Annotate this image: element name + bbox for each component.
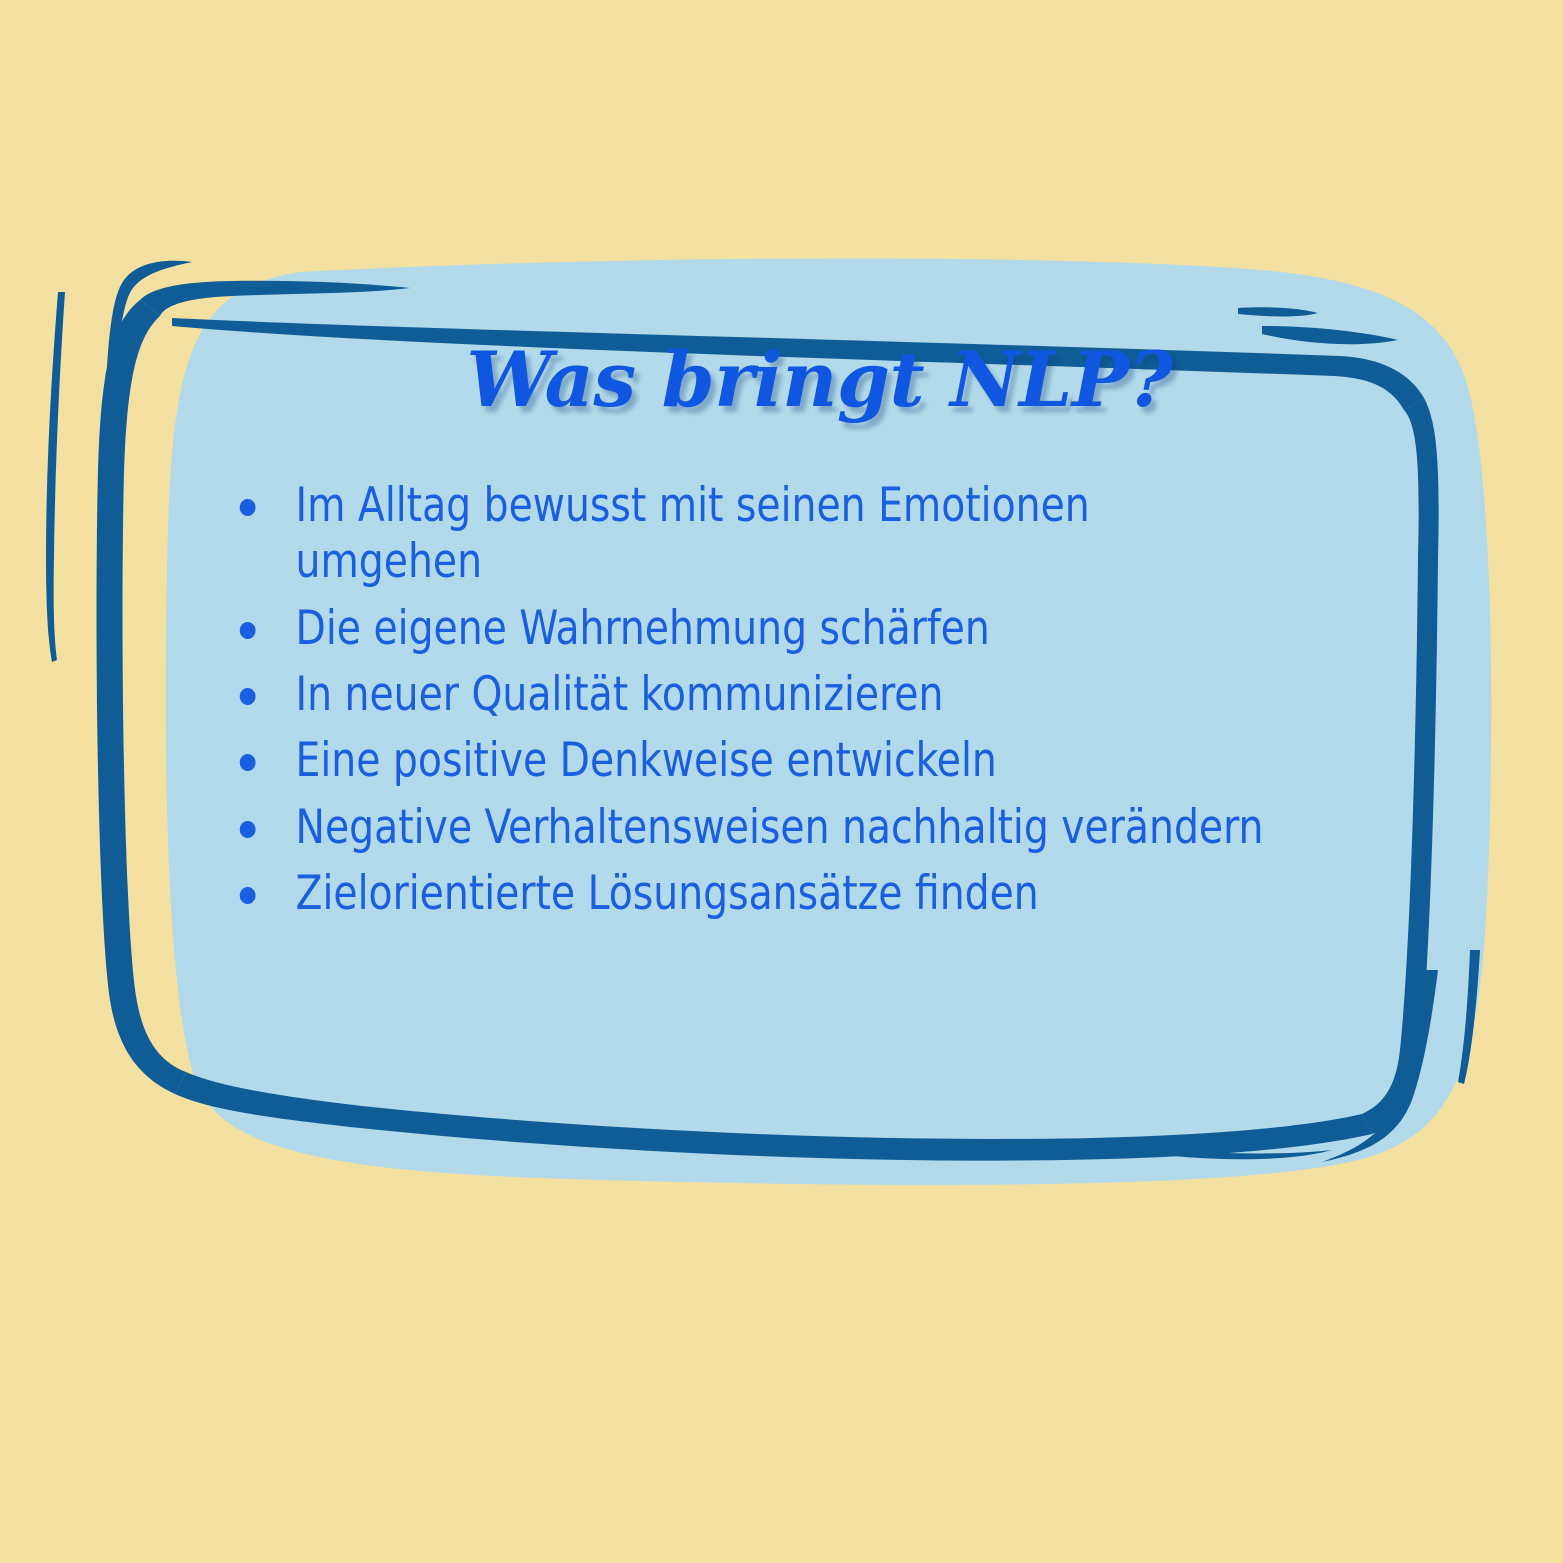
list-item: Negative Verhaltensweisen nachhaltig ver… (223, 800, 1346, 856)
list-item: In neuer Qualität kommunizieren (223, 667, 1346, 723)
list-item-label: Im Alltag bewusst mit seinen Emotionen u… (296, 478, 1090, 589)
bullet-dot-icon (240, 499, 256, 516)
accent-stroke-top-left-outer (140, 281, 410, 316)
bullet-dot-icon (240, 754, 256, 771)
list-item: Zielorientierte Lösungsansätze finden (223, 866, 1346, 922)
list-item: Im Alltag bewusst mit seinen Emotionen u… (223, 478, 1244, 591)
list-item: Eine positive Denkweise entwickeln (223, 733, 1346, 789)
bullet-dot-icon (240, 821, 256, 838)
list-item-label: Die eigene Wahrnehmung schärfen (296, 601, 990, 656)
card-content: Was bringt NLP? Im Alltag bewusst mit se… (175, 340, 1430, 1060)
page-title: Was bringt NLP? (175, 340, 1430, 420)
list-item-label: Eine positive Denkweise entwickeln (296, 733, 997, 788)
accent-stroke-bottom-right-tail (1136, 1146, 1332, 1159)
frame-stroke-left (97, 300, 187, 1094)
list-item-label: In neuer Qualität kommunizieren (296, 667, 944, 722)
poster-canvas: Was bringt NLP? Im Alltag bewusst mit se… (0, 0, 1563, 1563)
list-item: Die eigene Wahrnehmung schärfen (223, 601, 1346, 657)
list-item-label: Negative Verhaltensweisen nachhaltig ver… (296, 800, 1264, 855)
accent-stroke-top-right-upper (1238, 307, 1318, 316)
accent-stroke-left-long (46, 292, 65, 662)
accent-stroke-bottom-right-outer (1458, 950, 1480, 1084)
bullet-dot-icon (240, 688, 256, 705)
bullet-dot-icon (240, 622, 256, 639)
benefits-list: Im Alltag bewusst mit seinen Emotionen u… (175, 478, 1430, 923)
bullet-dot-icon (240, 887, 256, 904)
accent-stroke-left-short (111, 330, 121, 540)
list-item-label: Zielorientierte Lösungsansätze finden (296, 866, 1039, 921)
frame-stroke-bottom (175, 1072, 1372, 1161)
